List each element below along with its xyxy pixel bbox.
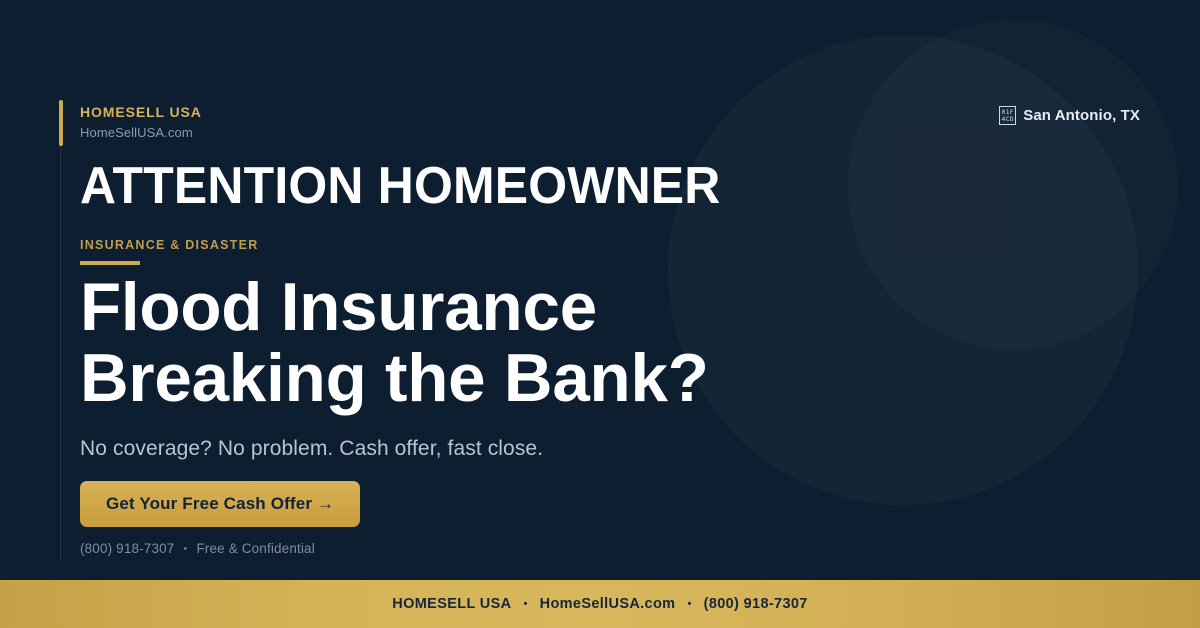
location-pin-icon: 01F 4CD — [999, 106, 1016, 125]
footer-separator-dot-2: • — [687, 598, 691, 610]
vertical-rail-line — [60, 100, 61, 560]
footer-website[interactable]: HomeSellUSA.com — [540, 596, 676, 612]
attention-headline: ATTENTION HOMEOWNER — [80, 158, 721, 214]
subheadline: No coverage? No problem. Cash offer, fas… — [80, 435, 543, 462]
brand-row: HOMESELL USA HomeSellUSA.com 01F 4CD San… — [80, 104, 1140, 141]
location-pin-icon-hex-bottom: 4CD — [1002, 116, 1014, 123]
footer-separator-dot-1: • — [523, 598, 527, 610]
main-headline: Flood Insurance Breaking the Bank? — [80, 272, 709, 413]
trust-separator-dot: • — [183, 543, 187, 555]
brand-name: HOMESELL USA — [80, 104, 202, 120]
gold-accent-bar — [59, 100, 63, 146]
brand-block: HOMESELL USA HomeSellUSA.com — [80, 104, 202, 141]
trust-phone[interactable]: (800) 918-7307 — [80, 541, 174, 556]
brand-website: HomeSellUSA.com — [80, 126, 202, 141]
eyebrow-underline-rule — [80, 261, 140, 265]
footer-content: HOMESELL USA • HomeSellUSA.com • (800) 9… — [392, 596, 807, 612]
advertisement-banner: HOMESELL USA HomeSellUSA.com 01F 4CD San… — [0, 0, 1200, 628]
cta-button[interactable]: Get Your Free Cash Offer → — [80, 481, 360, 527]
location-badge: 01F 4CD San Antonio, TX — [999, 106, 1140, 125]
trust-line: (800) 918-7307 • Free & Confidential — [80, 541, 315, 556]
category-eyebrow: INSURANCE & DISASTER — [80, 238, 259, 252]
hero-content: HOMESELL USA HomeSellUSA.com 01F 4CD San… — [80, 0, 1120, 580]
trust-note: Free & Confidential — [196, 541, 314, 556]
footer-bar: HOMESELL USA • HomeSellUSA.com • (800) 9… — [0, 580, 1200, 628]
footer-phone[interactable]: (800) 918-7307 — [704, 596, 808, 612]
footer-brand: HOMESELL USA — [392, 596, 511, 612]
location-label: San Antonio, TX — [1023, 107, 1140, 124]
